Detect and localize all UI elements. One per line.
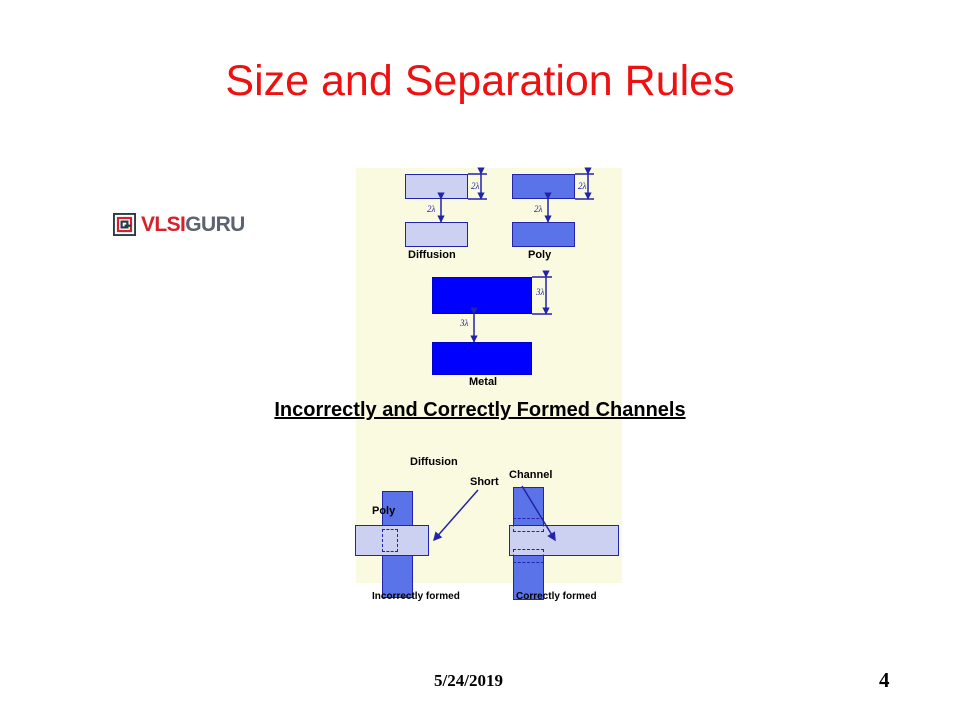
metal-caption: Metal	[469, 376, 497, 388]
channel-outline-correct-bottom	[513, 549, 544, 563]
poly-width-label: 2λ	[578, 181, 586, 191]
metal-spacing-label: 3λ	[460, 318, 468, 328]
page-title: Size and Separation Rules	[0, 57, 960, 106]
diffusion-width-label: 2λ	[471, 181, 479, 191]
short-callout-label: Short	[470, 476, 499, 488]
channel-outline-correct-top	[513, 518, 544, 532]
caption-correctly-formed: Correctly formed	[516, 591, 597, 602]
diffusion-caption: Diffusion	[408, 249, 456, 261]
poly-rect-bottom	[512, 222, 575, 247]
poly-rect-top	[512, 174, 575, 199]
diffusion-label-incorrect: Diffusion	[410, 456, 458, 468]
logo-text-guru: GURU	[185, 213, 244, 236]
caption-incorrectly-formed: Incorrectly formed	[372, 591, 460, 602]
slide-canvas: Size and Separation Rules VLSIGURU 2λ 2λ…	[0, 0, 960, 720]
diffusion-spacing-label: 2λ	[427, 204, 435, 214]
poly-spacing-label: 2λ	[534, 204, 542, 214]
metal-rect-top	[432, 277, 532, 314]
metal-width-label: 3λ	[536, 287, 544, 297]
figure-panel: 2λ 2λ Diffusion 2λ 2λ Poly 3λ 3λ Metal D…	[356, 168, 622, 583]
poly-caption: Poly	[528, 249, 551, 261]
logo-text-vlsi: VLSI	[141, 213, 185, 236]
footer-page-number: 4	[879, 668, 890, 693]
logo-wordmark: VLSIGURU	[141, 214, 245, 235]
footer-date: 5/24/2019	[434, 671, 503, 691]
channel-outline-incorrect	[382, 529, 398, 552]
poly-label-incorrect: Poly	[372, 505, 395, 517]
diffusion-rect-top	[405, 174, 468, 199]
channels-section-heading: Incorrectly and Correctly Formed Channel…	[0, 399, 960, 422]
vlsiguru-logo: VLSIGURU	[113, 209, 261, 239]
diffusion-rect-bottom	[405, 222, 468, 247]
metal-rect-bottom	[432, 342, 532, 375]
channel-callout-label: Channel	[509, 469, 552, 481]
square-spiral-icon	[113, 213, 136, 236]
